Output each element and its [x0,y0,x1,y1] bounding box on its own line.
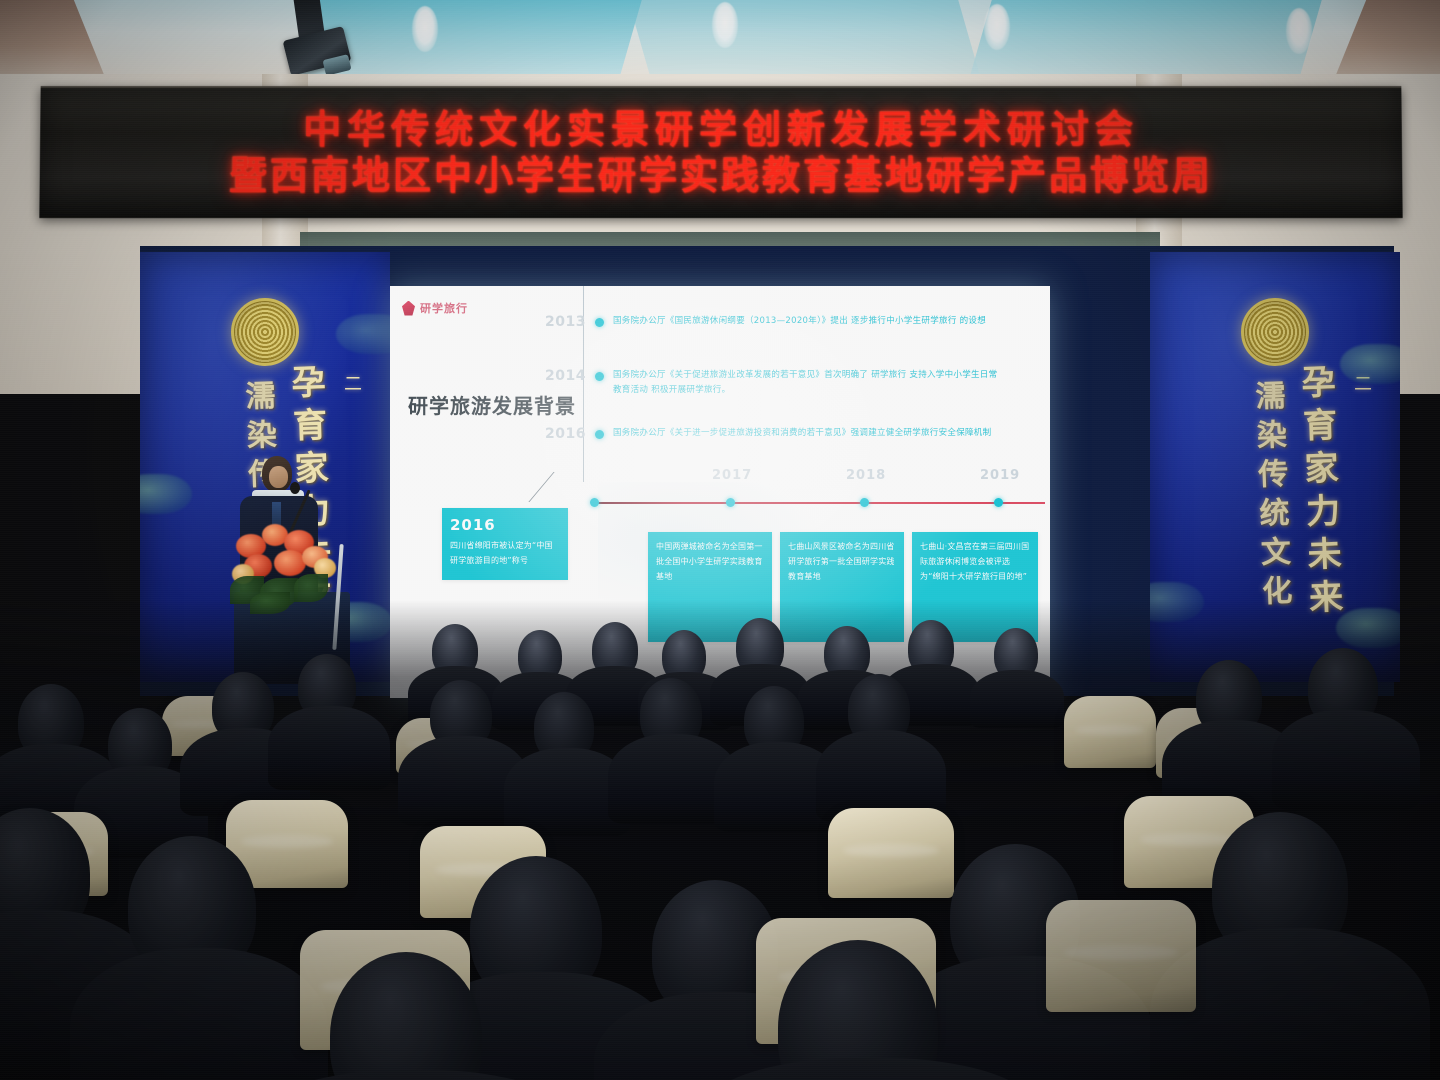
timeline-axis-dot-icon [860,498,869,507]
draped-banquet-chair [1046,900,1196,1012]
ceiling [0,0,1440,80]
timeline-dot-icon [595,318,604,327]
banner-line-1: 中华传统文化实景研学创新发展学术研讨会 [303,110,1139,148]
timeline-text: 国务院办公厅《关于促进旅游业改革发展的若干意见》首次明确了 研学旅行 支持入学中… [613,368,1005,398]
timeline-axis-dot-icon [590,498,599,507]
timeline-dot-icon [595,430,604,439]
timeline-year: 2013 [542,314,586,330]
timeline-axis-dot-icon [994,498,1003,507]
slide-card: 2016 四川省绵阳市被认定为“中国研学旅游目的地”称号 [442,508,568,580]
draped-banquet-chair [828,808,954,898]
slide-logo: 研学旅行 [402,300,468,316]
backdrop-mark-left: 二 [344,370,362,396]
backdrop-calligraphy-secondary-right: 濡染传统文化 [1244,379,1296,614]
gold-medallion-icon [1241,298,1309,366]
slide-card-year: 2016 [450,516,560,534]
ceiling-rib-right [1326,0,1440,80]
gold-medallion-icon [231,298,299,366]
conference-hall-scene: 中华传统文化实景研学创新发展学术研讨会 暨西南地区中小学生研学实践教育基地研学产… [0,0,1440,1080]
event-banner: 中华传统文化实景研学创新发展学术研讨会 暨西南地区中小学生研学实践教育基地研学产… [39,86,1402,218]
timeline-row: 2013 国务院办公厅《国民旅游休闲纲要（2013—2020年）》提出 逐步推行… [542,314,986,330]
timeline-year: 2016 [542,426,586,442]
timeline-axis-dot-icon [726,498,735,507]
timeline-axis-year: 2017 [712,468,752,483]
audience-shoulders [1272,710,1420,810]
timeline-row: 2016 国务院办公厅《关于进一步促进旅游投资和消费的若干意见》强调建立健全研学… [542,426,991,442]
microphone-icon [290,482,300,494]
timeline-dot-icon [595,372,604,381]
slide-logo-text: 研学旅行 [420,300,468,316]
timeline-axis-year: 2018 [846,468,886,483]
recessed-downlight [712,2,738,48]
recessed-downlight [984,4,1010,50]
timeline-text: 国务院办公厅《国民旅游休闲纲要（2013—2020年）》提出 逐步推行中小学生研… [613,314,986,329]
recessed-downlight [412,6,438,52]
audience-area [0,600,1440,1080]
slide-card-text: 七曲山风景区被命名为四川省研学旅行第一批全国研学实践教育基地 [788,540,896,584]
backdrop-calligraphy-main-right: 孕育家力未来 [1291,363,1349,623]
speaker-face [269,466,288,488]
timeline-axis [593,502,1045,504]
recessed-downlight [1286,8,1312,54]
ceiling-rib-left [0,0,114,80]
logo-mark-icon [402,301,415,316]
slide-card-text: 七曲山·文昌宫在第三届四川国际旅游休闲博览会被评选为“绵阳十大研学旅行目的地” [920,540,1030,584]
slide-card-text: 四川省绵阳市被认定为“中国研学旅游目的地”称号 [450,539,560,569]
draped-banquet-chair [1064,696,1156,768]
timeline-row: 2014 国务院办公厅《关于促进旅游业改革发展的若干意见》首次明确了 研学旅行 … [542,368,1005,398]
timeline-year: 2014 [542,368,586,384]
audience-shoulders [268,706,390,790]
audience-shoulders [70,948,328,1080]
timeline-text: 国务院办公厅《关于进一步促进旅游投资和消费的若干意见》强调建立健全研学旅行安全保… [613,426,991,441]
banner-line-2: 暨西南地区中小学生研学实践教育基地研学产品博览周 [229,156,1214,194]
timeline-axis-year: 2019 [980,468,1020,483]
floral-arrangement [230,520,350,612]
slide-card-text: 中国两弹城被命名为全国第一批全国中小学生研学实践教育基地 [656,540,764,584]
audience-shoulders [970,670,1064,728]
